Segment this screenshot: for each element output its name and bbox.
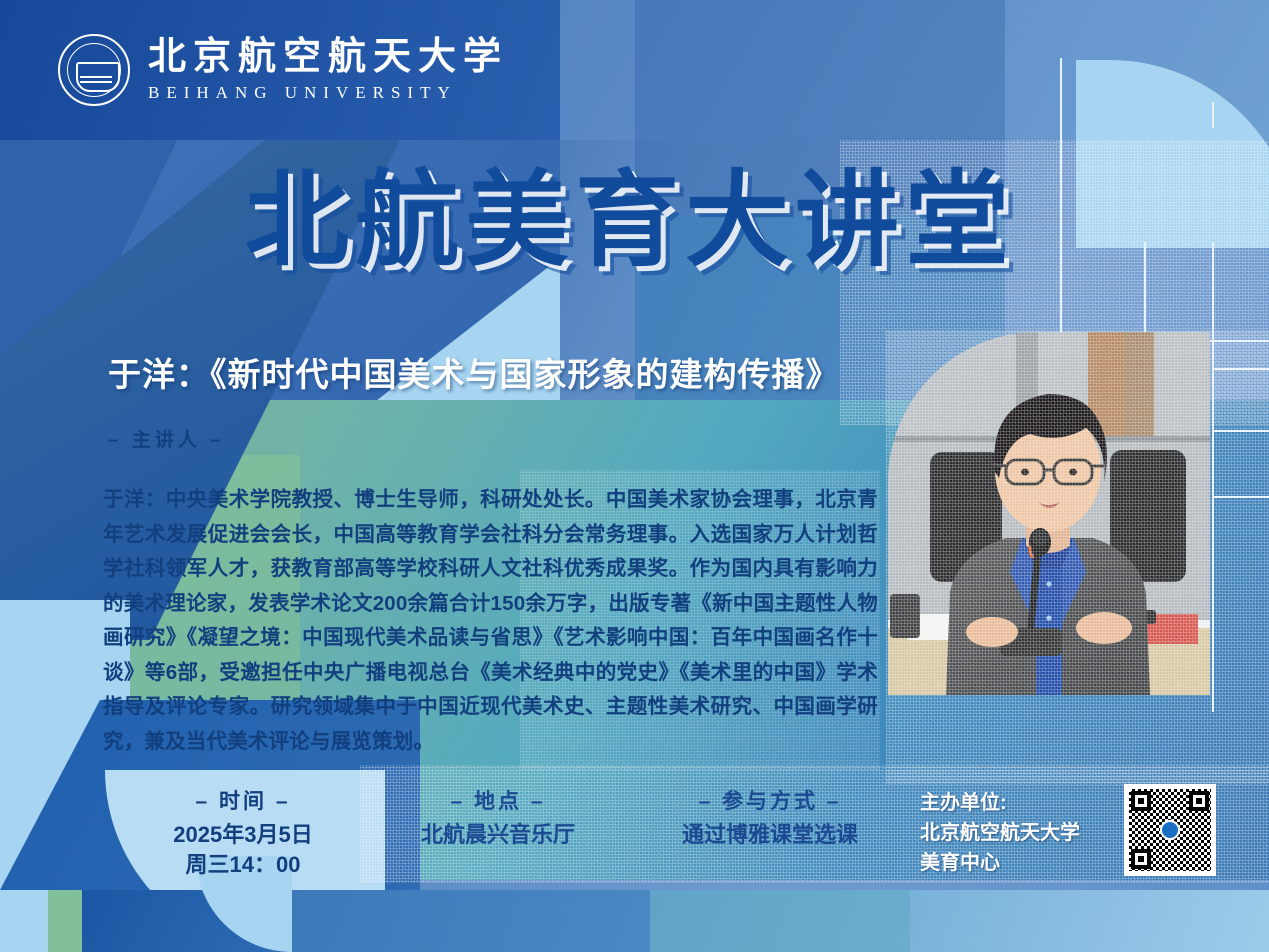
info-block-place: – 地点 – 北航晨兴音乐厅 xyxy=(368,785,628,850)
qr-code-icon[interactable] xyxy=(1124,784,1216,876)
qr-code-pattern xyxy=(1129,789,1211,871)
organizer-label: 主办单位: xyxy=(920,788,1130,818)
beihang-seal-icon xyxy=(58,34,130,106)
info-join-method: 通过博雅课堂选课 xyxy=(630,820,910,850)
page-title: 北航美育大讲堂 xyxy=(245,168,1145,272)
bottom-color-strip xyxy=(0,890,1269,952)
qr-center-logo xyxy=(1160,820,1180,840)
info-block-time: – 时间 – 2025年3月5日 周三14：00 xyxy=(118,785,368,880)
info-place-heading: – 地点 – xyxy=(368,785,628,815)
organizer-name: 北京航空航天大学 xyxy=(920,818,1130,848)
organizer-dept: 美育中心 xyxy=(920,848,1130,878)
university-name-en: BEIHANG UNIVERSITY xyxy=(148,83,508,103)
university-name-cn: 北京航空航天大学 xyxy=(148,38,508,76)
info-time-clock: 周三14：00 xyxy=(118,850,368,880)
qr-eye-bl xyxy=(1131,849,1151,869)
brand-block: 北京航空航天大学 BEIHANG UNIVERSITY xyxy=(148,38,508,103)
info-block-join: – 参与方式 – 通过博雅课堂选课 xyxy=(630,785,910,850)
strip-seg-2 xyxy=(48,890,82,952)
poster-root: 北京航空航天大学 BEIHANG UNIVERSITY 北航美育大讲堂 于洋：《… xyxy=(0,0,1269,952)
texture-overlay-photo-frame xyxy=(886,330,1269,785)
lecture-subtitle: 于洋：《新时代中国美术与国家形象的建构传播》 xyxy=(108,348,908,396)
organizer-block: 主办单位: 北京航空航天大学 美育中心 xyxy=(920,788,1130,878)
speaker-section-label: – 主讲人 – xyxy=(108,425,225,452)
speaker-bio: 于洋：中央美术学院教授、博士生导师，科研处处长。中国美术家协会理事，北京青年艺术… xyxy=(103,483,878,759)
strip-seg-5 xyxy=(650,890,910,952)
info-join-heading: – 参与方式 – xyxy=(630,785,910,815)
poster-header: 北京航空航天大学 BEIHANG UNIVERSITY xyxy=(0,0,1269,140)
qr-eye-tr xyxy=(1189,791,1209,811)
info-time-date: 2025年3月5日 xyxy=(118,820,368,850)
info-place-venue: 北航晨兴音乐厅 xyxy=(368,820,628,850)
strip-seg-6 xyxy=(910,890,1269,952)
strip-seg-1 xyxy=(0,890,48,952)
strip-seg-4 xyxy=(290,890,650,952)
qr-eye-tl xyxy=(1131,791,1151,811)
info-time-heading: – 时间 – xyxy=(118,785,368,815)
